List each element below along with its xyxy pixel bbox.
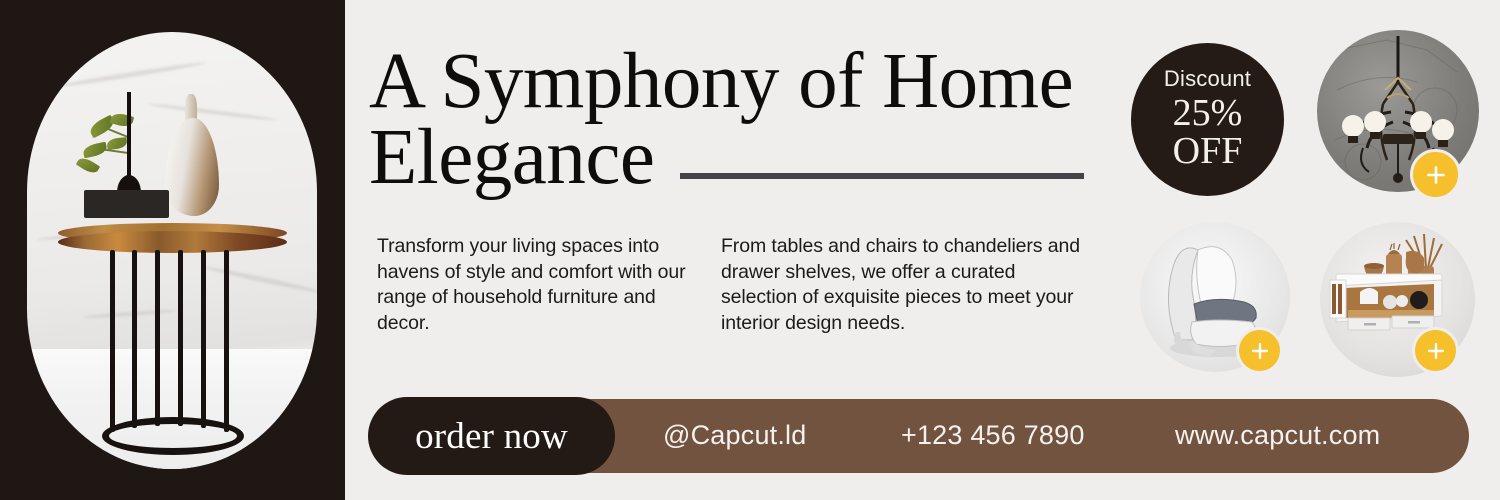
- table-leg: [132, 250, 137, 428]
- wall-texture-streak: [147, 102, 277, 122]
- table-top-edge: [58, 231, 287, 253]
- hero-panel: [0, 0, 345, 500]
- table-leg: [178, 250, 183, 426]
- decor-black-box: [84, 190, 169, 218]
- wall-texture-streak: [203, 265, 317, 295]
- website-url[interactable]: www.capcut.com: [1175, 420, 1380, 451]
- add-product-chair-button[interactable]: [1236, 327, 1283, 374]
- table-leg: [110, 250, 115, 432]
- body-copy-column-1: Transform your living spaces into havens…: [377, 234, 687, 337]
- phone-number[interactable]: +123 456 7890: [901, 420, 1085, 451]
- plant-leaf: [82, 142, 108, 159]
- discount-badge: Discount 25% OFF: [1131, 43, 1284, 196]
- headline-line-2: Elegance: [369, 120, 1099, 196]
- plus-icon: [1424, 163, 1448, 187]
- wall-texture-streak: [82, 309, 177, 320]
- headline-underline-rule: [680, 173, 1084, 179]
- table-leg: [224, 250, 229, 432]
- hero-product-image: [27, 32, 317, 469]
- body-copy-column-2: From tables and chairs to chandeliers an…: [721, 234, 1096, 337]
- discount-percent: 25%: [1173, 94, 1243, 132]
- plant-leaf: [107, 137, 128, 150]
- wall-texture-streak: [58, 60, 207, 88]
- add-product-chandelier-button[interactable]: [1410, 149, 1461, 200]
- order-now-button[interactable]: order now: [368, 397, 615, 475]
- table-leg: [155, 250, 160, 426]
- plus-icon: [1249, 340, 1271, 362]
- add-product-shelf-button[interactable]: [1412, 327, 1459, 374]
- promo-banner: A Symphony of Home Elegance Transform yo…: [0, 0, 1500, 500]
- table-leg: [201, 250, 206, 428]
- ceramic-vase: [165, 118, 219, 216]
- headline-line-1: A Symphony of Home: [369, 38, 1073, 125]
- discount-label: Discount: [1164, 68, 1251, 90]
- plant-leaf: [76, 155, 100, 176]
- discount-suffix: OFF: [1173, 132, 1243, 172]
- order-now-label: order now: [415, 415, 568, 458]
- social-handle[interactable]: @Capcut.ld: [663, 420, 806, 451]
- table-base-ring: [102, 417, 244, 455]
- plus-icon: [1425, 340, 1447, 362]
